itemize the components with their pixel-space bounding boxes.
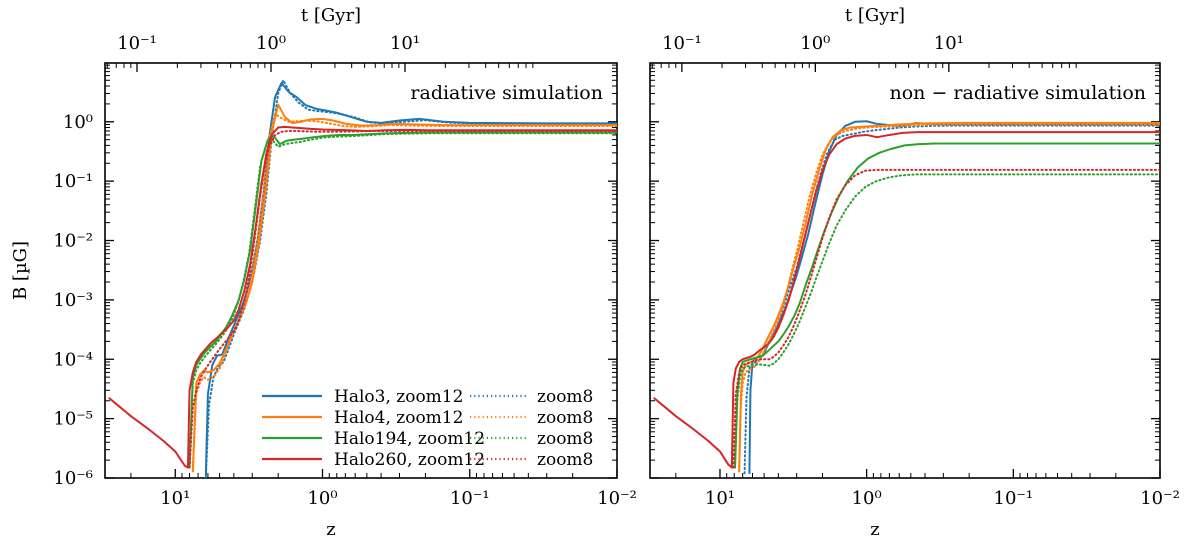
- legend-label-dotted: zoom8: [537, 429, 593, 449]
- x-tick-label: 10¹: [705, 488, 735, 509]
- figure-container: 10⁰10⁻¹10⁻²10⁻³10⁻⁴10⁻⁵10⁻⁶10¹10⁰10⁻¹10⁻…: [0, 0, 1200, 540]
- x-tick-label: 10⁻²: [597, 488, 637, 509]
- panel-title: non − radiative simulation: [890, 82, 1147, 104]
- legend-label-dotted: zoom8: [537, 450, 593, 470]
- legend: Halo3, zoom12zoom8Halo4, zoom12zoom8Halo…: [262, 387, 593, 470]
- panel-right: 10¹10⁰10⁻¹10⁻²10⁻¹10⁰10¹t [Gyr]znon − ra…: [650, 5, 1180, 540]
- legend-label-dotted: zoom8: [537, 408, 593, 428]
- curves-group: [654, 121, 1160, 473]
- top-axis-title: t [Gyr]: [301, 5, 361, 26]
- legend-label-solid: Halo260, zoom12: [334, 450, 485, 470]
- t-tick-label: 10⁰: [800, 33, 830, 54]
- y-tick-label: 10⁻⁵: [53, 409, 93, 430]
- y-tick-label: 10⁻⁶: [53, 468, 93, 489]
- x-tick-label: 10⁻¹: [450, 488, 490, 509]
- x-axis-top-ticks: 10⁻¹10⁰10¹: [107, 33, 533, 72]
- x-tick-label: 10⁰: [852, 488, 882, 509]
- series-line: [735, 144, 1160, 468]
- legend-label-solid: Halo3, zoom12: [334, 387, 463, 407]
- t-tick-label: 10¹: [390, 33, 420, 54]
- y-axis-title: B [µG]: [10, 241, 31, 300]
- x-tick-label: 10⁰: [307, 488, 337, 509]
- x-axis-bottom-ticks: 10¹10⁰10⁻¹10⁻²: [650, 469, 1180, 509]
- x-tick-label: 10⁻²: [1140, 488, 1180, 509]
- series-line: [735, 174, 1160, 467]
- series-line: [654, 132, 1160, 467]
- y-tick-label: 10⁰: [63, 112, 93, 133]
- bottom-axis-title: z: [870, 519, 879, 540]
- legend-label-solid: Halo4, zoom12: [334, 408, 463, 428]
- top-axis-title: t [Gyr]: [845, 5, 905, 26]
- x-axis-top-ticks: 10⁻¹10⁰10¹: [652, 33, 1076, 72]
- x-tick-label: 10⁻¹: [994, 488, 1034, 509]
- y-tick-label: 10⁻¹: [53, 171, 93, 192]
- t-tick-label: 10¹: [934, 33, 964, 54]
- legend-label-solid: Halo194, zoom12: [334, 429, 485, 449]
- panel-title: radiative simulation: [410, 82, 603, 104]
- chart-canvas: 10⁰10⁻¹10⁻²10⁻³10⁻⁴10⁻⁵10⁻⁶10¹10⁰10⁻¹10⁻…: [0, 0, 1200, 540]
- t-tick-label: 10⁻¹: [117, 33, 157, 54]
- t-tick-label: 10⁰: [256, 33, 286, 54]
- x-tick-label: 10¹: [160, 488, 190, 509]
- t-tick-label: 10⁻¹: [662, 33, 702, 54]
- legend-label-dotted: zoom8: [537, 387, 593, 407]
- y-tick-label: 10⁻²: [53, 231, 93, 252]
- y-tick-label: 10⁻⁴: [53, 349, 93, 370]
- series-line: [733, 170, 1160, 468]
- series-line: [745, 126, 1160, 474]
- y-tick-label: 10⁻³: [53, 290, 93, 311]
- x-axis-bottom-ticks: 10¹10⁰10⁻¹10⁻²: [105, 469, 637, 509]
- bottom-axis-title: z: [326, 519, 335, 540]
